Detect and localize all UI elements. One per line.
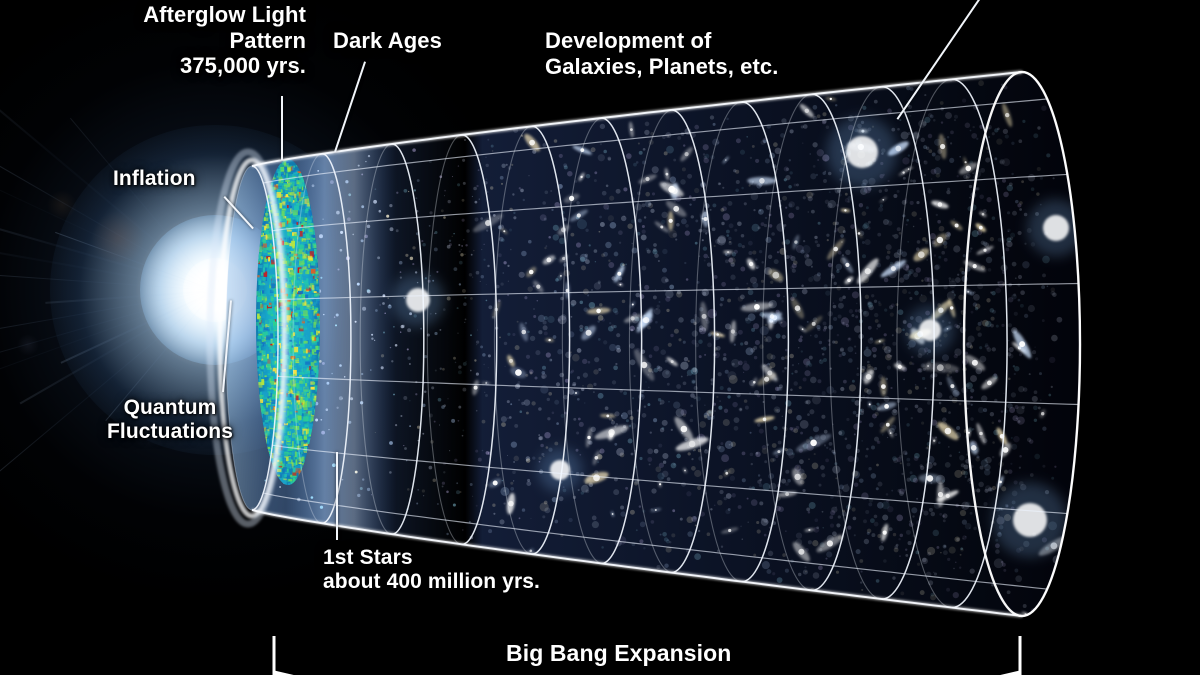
funnel-body (226, 72, 1085, 617)
label-development-of-galaxies: Development of Galaxies, Planets, etc. (545, 28, 778, 79)
label-dark-ages: Dark Ages (333, 28, 442, 54)
label-inflation: Inflation (113, 167, 196, 191)
diagram-canvas: Afterglow Light Pattern 375,000 yrs. Dar… (0, 0, 1200, 675)
label-afterglow-light-pattern: Afterglow Light Pattern 375,000 yrs. (96, 2, 306, 79)
expansion-funnel (0, 0, 1200, 675)
label-big-bang-expansion: Big Bang Expansion (506, 640, 731, 667)
leader-afterglow (281, 96, 283, 160)
label-quantum-fluctuations: Quantum Fluctuations (100, 396, 240, 445)
leader-first-stars (336, 452, 338, 540)
label-first-stars: 1st Stars about 400 million yrs. (323, 546, 540, 595)
